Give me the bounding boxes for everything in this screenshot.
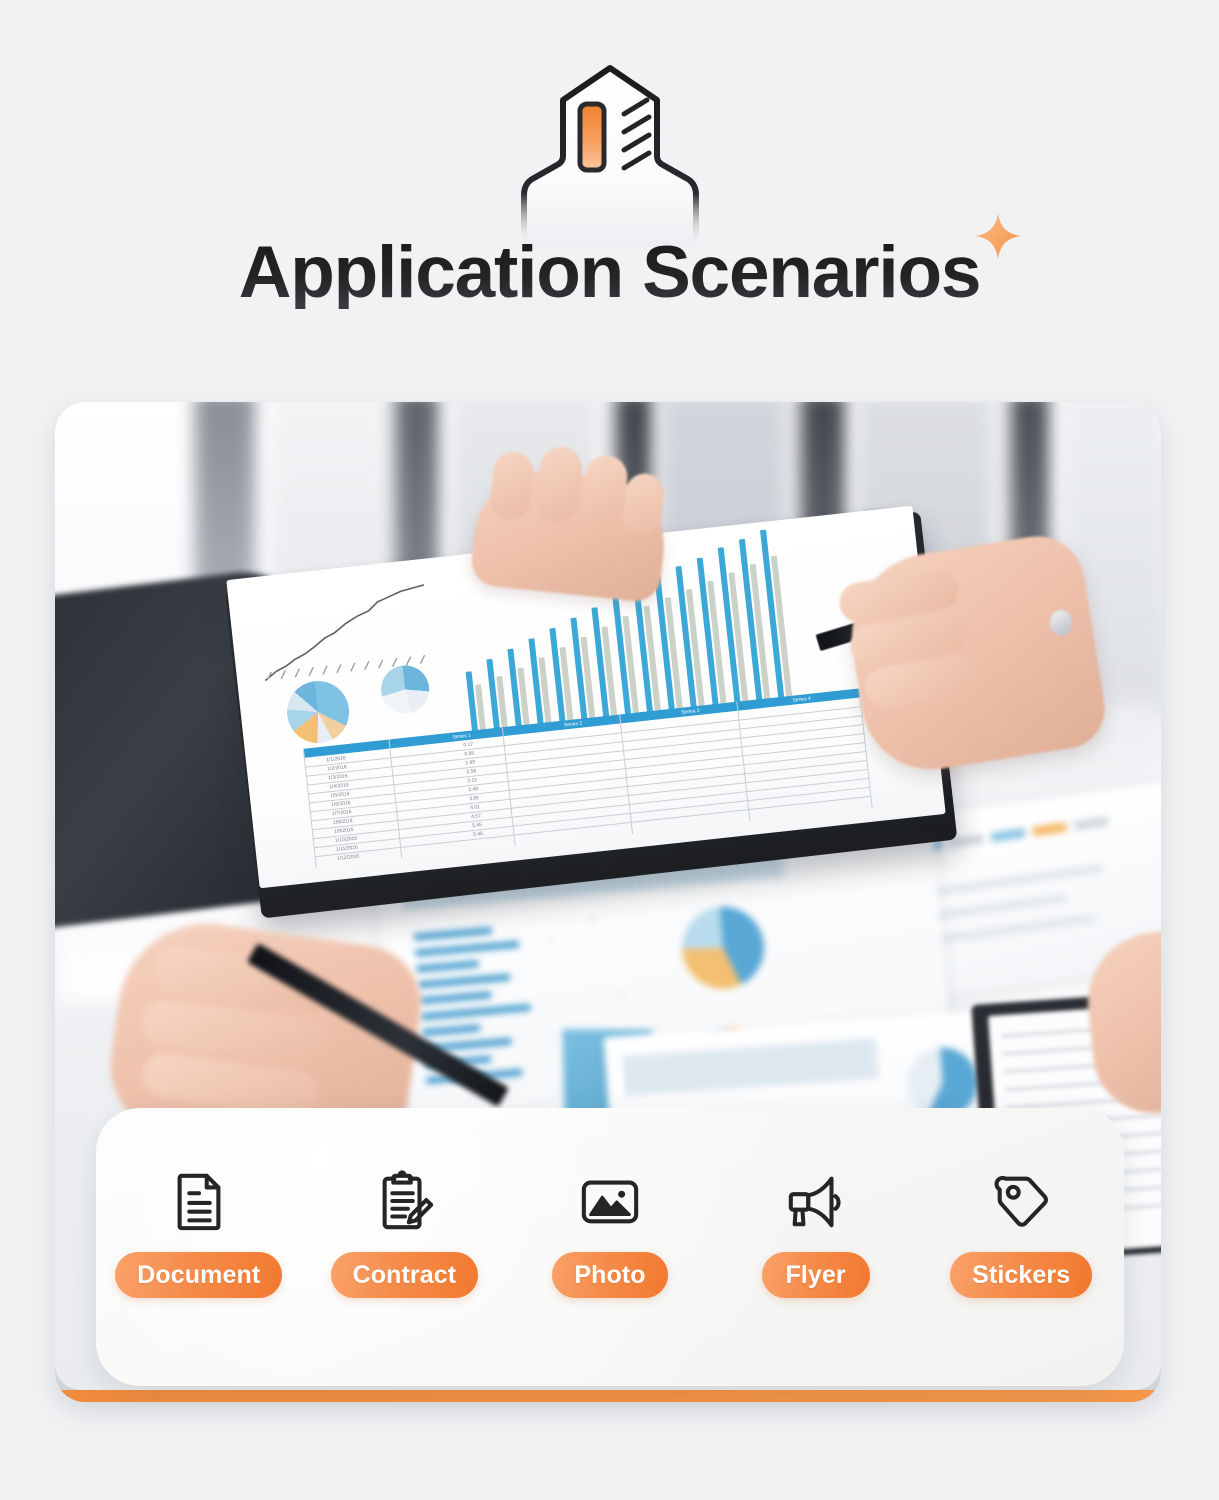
scenario-label-contract[interactable]: Contract	[331, 1252, 479, 1298]
document-icon	[162, 1164, 236, 1238]
building-logo-icon	[500, 62, 720, 247]
table-value-cell: 0.95	[464, 750, 474, 757]
finger-ring	[1050, 610, 1072, 636]
card-accent-bar	[57, 1390, 1159, 1402]
table-value-cell: 4.01	[470, 804, 480, 811]
scenario-label-photo[interactable]: Photo	[552, 1252, 667, 1298]
table-value-cell: 4.57	[471, 813, 481, 820]
table-value-cell: 5.45	[473, 831, 483, 838]
table-value-cell: 0.17	[463, 741, 473, 748]
table-value-cell: 5.45	[472, 822, 482, 829]
scenario-item-photo[interactable]: Photo	[515, 1164, 705, 1298]
trend-line-chart	[250, 575, 469, 689]
scenario-tags-card: Document Contract	[96, 1108, 1124, 1386]
scenario-tags-row: Document Contract	[96, 1164, 1124, 1298]
hand-holding-clipboard	[469, 464, 671, 603]
table-date-cell: 1/12/2016	[337, 853, 360, 861]
flyer-icon	[779, 1164, 853, 1238]
table-value-cell: 3.15	[467, 777, 477, 784]
scenario-item-document[interactable]: Document	[104, 1164, 294, 1298]
sparkle-star-icon	[972, 210, 1024, 262]
table-value-cell: 3.49	[468, 786, 478, 793]
stickers-icon	[984, 1164, 1058, 1238]
table-value-cell: 3.85	[469, 795, 479, 802]
contract-icon	[367, 1164, 441, 1238]
photo-icon	[573, 1164, 647, 1238]
page-title: Application Scenarios	[239, 236, 980, 309]
page-title-row: Application Scenarios	[0, 236, 1219, 309]
scenario-label-document[interactable]: Document	[115, 1252, 282, 1298]
scenario-item-stickers[interactable]: Stickers	[926, 1164, 1116, 1298]
table-value-cell: 2.58	[466, 768, 476, 775]
pie-chart-1	[284, 678, 352, 746]
scenario-item-flyer[interactable]: Flyer	[721, 1164, 911, 1298]
page-header: Application Scenarios	[0, 0, 1219, 390]
scenario-label-flyer[interactable]: Flyer	[762, 1252, 870, 1298]
scenario-label-stickers[interactable]: Stickers	[950, 1252, 1092, 1298]
scenario-item-contract[interactable]: Contract	[309, 1164, 499, 1298]
table-value-cell: 1.98	[465, 759, 475, 766]
